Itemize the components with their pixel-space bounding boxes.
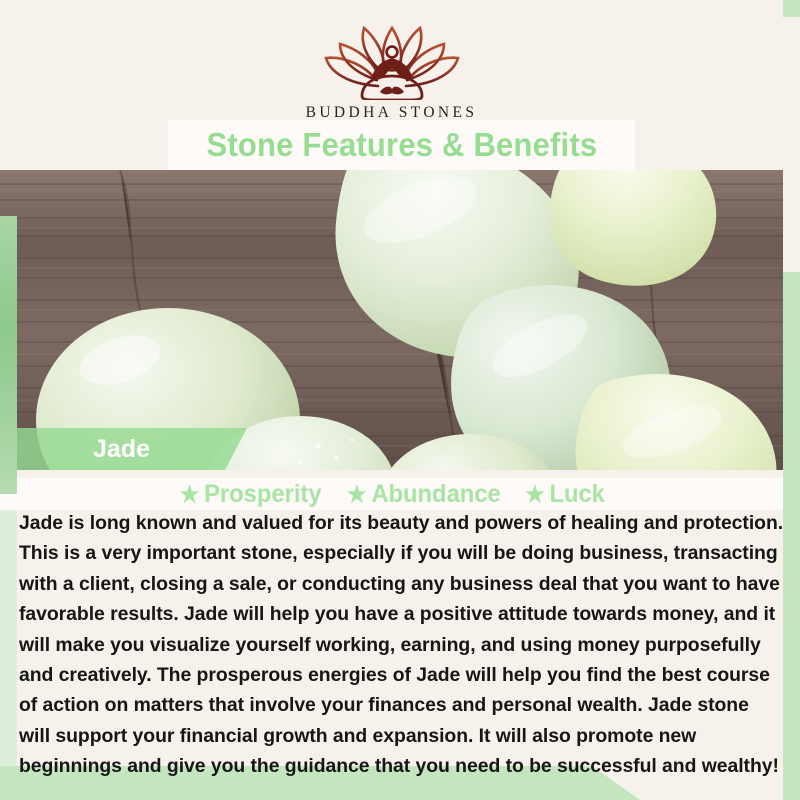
stone-name-banner: Jade bbox=[17, 428, 247, 470]
star-icon: ★ bbox=[347, 483, 367, 506]
star-icon: ★ bbox=[180, 483, 200, 506]
stone-description-text: Jade is long known and valued for its be… bbox=[19, 508, 785, 782]
brand-logo: BUDDHA STONES bbox=[0, 22, 783, 122]
frame-left-lower-band bbox=[0, 494, 17, 766]
page-title: Stone Features & Benefits bbox=[206, 126, 597, 164]
frame-left-accent-band bbox=[0, 216, 17, 494]
lotus-meditation-icon bbox=[318, 22, 466, 100]
title-banner: Stone Features & Benefits bbox=[168, 120, 635, 170]
stone-photo-image bbox=[0, 170, 783, 470]
frame-right-mask bbox=[783, 17, 800, 272]
stone-description: Jade is long known and valued for its be… bbox=[17, 505, 787, 782]
stone-photo bbox=[0, 170, 783, 470]
stone-name-label: Jade bbox=[93, 435, 150, 464]
stone-info-poster: BUDDHA STONES bbox=[0, 0, 800, 800]
star-icon: ★ bbox=[525, 483, 545, 506]
